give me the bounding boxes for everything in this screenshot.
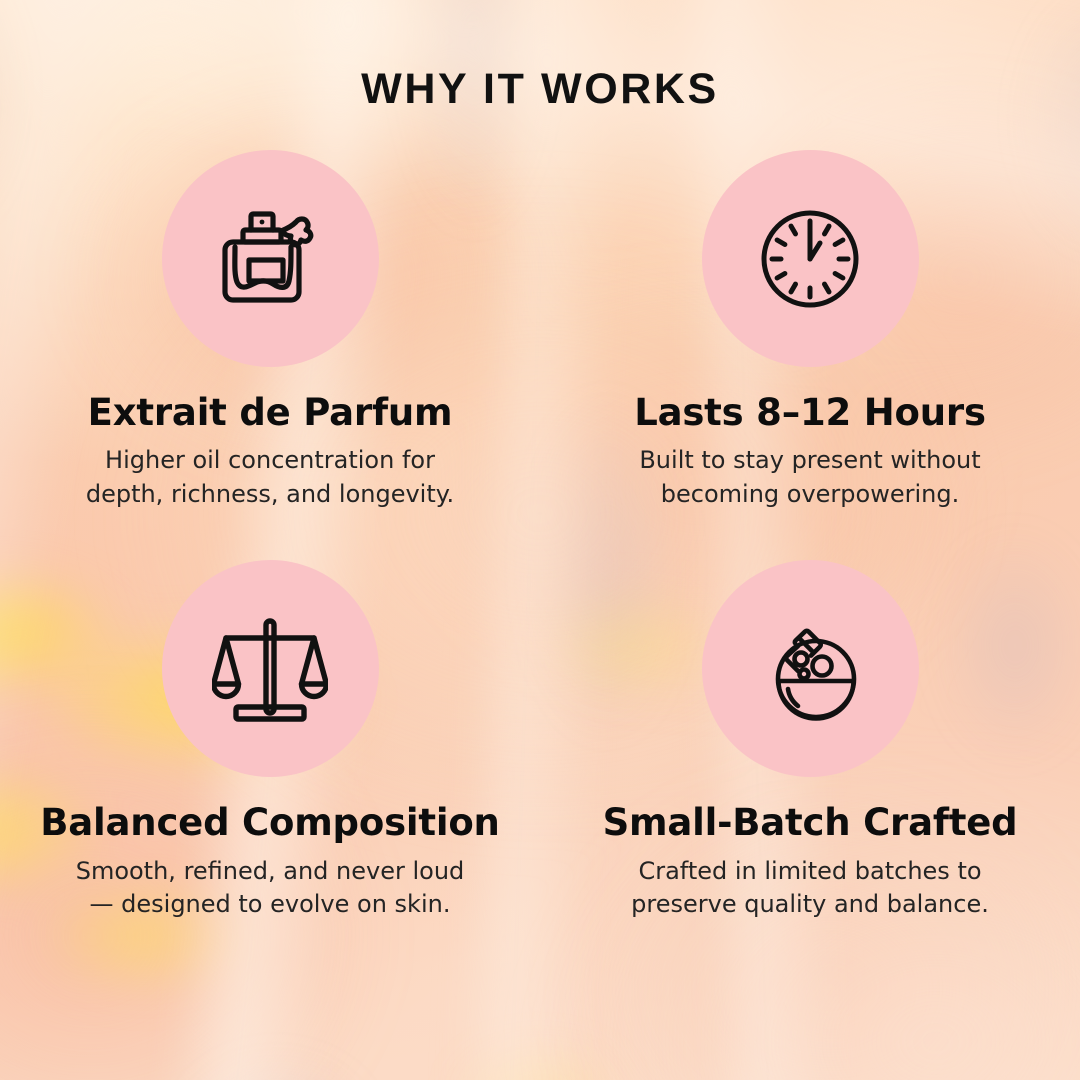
feature-description: Smooth, refined, and never loud — design… [76, 855, 465, 922]
feature-card-extrait-de-parfum: Extrait de Parfum Higher oil concentrati… [0, 150, 540, 511]
poster-content: WHY IT WORKS [0, 0, 1080, 1080]
feature-title: Lasts 8–12 Hours [634, 393, 986, 432]
feature-description: Built to stay present without becoming o… [639, 444, 980, 511]
feature-card-small-batch-crafted: Small-Batch Crafted Crafted in limited b… [540, 560, 1080, 921]
icon-badge-flask [702, 560, 919, 777]
icon-badge-scales [162, 560, 379, 777]
perfume-bottle-spray-icon [211, 200, 329, 318]
why-it-works-poster: WHY IT WORKS [0, 0, 1080, 1080]
feature-card-lasts-8-12-hours: Lasts 8–12 Hours Built to stay present w… [540, 150, 1080, 511]
feature-title: Balanced Composition [40, 803, 499, 842]
page-title: WHY IT WORKS [0, 68, 1080, 111]
feature-description: Higher oil concentration for depth, rich… [86, 444, 454, 511]
feature-description: Crafted in limited batches to preserve q… [631, 855, 989, 922]
round-flask-icon [754, 613, 866, 725]
feature-title: Extrait de Parfum [88, 393, 453, 432]
feature-row-bottom: Balanced Composition Smooth, refined, an… [0, 560, 1080, 921]
feature-grid: Extrait de Parfum Higher oil concentrati… [0, 150, 1080, 922]
feature-title: Small-Batch Crafted [603, 803, 1018, 842]
feature-row-top: Extrait de Parfum Higher oil concentrati… [0, 150, 1080, 511]
balance-scales-icon [212, 611, 328, 727]
feature-card-balanced-composition: Balanced Composition Smooth, refined, an… [0, 560, 540, 921]
icon-badge-clock [702, 150, 919, 367]
icon-badge-perfume [162, 150, 379, 367]
clock-icon [758, 207, 862, 311]
